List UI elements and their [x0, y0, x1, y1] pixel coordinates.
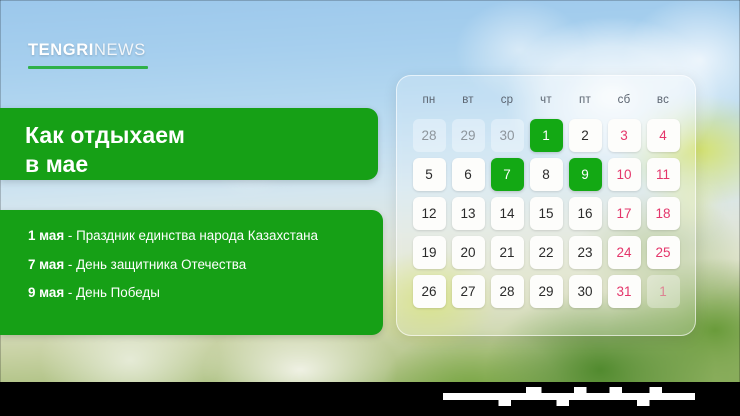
calendar-day-31[interactable]: 31 [608, 275, 641, 308]
calendar-cell-wrap: 20 [449, 233, 488, 272]
holiday-item: 1 мая - Праздник единства народа Казахст… [28, 227, 365, 245]
calendar-cell-wrap: 27 [449, 272, 488, 311]
calendar-day-1[interactable]: 1 [647, 275, 680, 308]
calendar-cell-wrap: 19 [410, 233, 449, 272]
calendar-weekday-вс: вс [644, 94, 683, 106]
holiday-separator: - [64, 257, 76, 272]
calendar-weekday-пт: пт [566, 94, 605, 106]
calendar-day-13[interactable]: 13 [452, 197, 485, 230]
calendar-cell-wrap: 28 [488, 272, 527, 311]
calendar-day-5[interactable]: 5 [413, 158, 446, 191]
calendar-day-28[interactable]: 28 [491, 275, 524, 308]
calendar-cell-wrap: 24 [605, 233, 644, 272]
calendar-day-16[interactable]: 16 [569, 197, 602, 230]
calendar-cell-wrap: 3 [605, 116, 644, 155]
calendar-day-8[interactable]: 8 [530, 158, 563, 191]
calendar-cell-wrap: 1 [527, 116, 566, 155]
title-banner: Как отдыхаем в мае [0, 108, 378, 180]
holidays-banner: 1 мая - Праздник единства народа Казахст… [0, 210, 383, 335]
calendar-cell-wrap: 28 [410, 116, 449, 155]
page-title: Как отдыхаем в мае [25, 121, 358, 179]
calendar-cell-wrap: 22 [527, 233, 566, 272]
calendar-day-12[interactable]: 12 [413, 197, 446, 230]
calendar-cell-wrap: 6 [449, 155, 488, 194]
holiday-name: День защитника Отечества [76, 257, 246, 272]
holiday-date: 9 мая [28, 285, 64, 300]
calendar-day-23[interactable]: 23 [569, 236, 602, 269]
calendar-cell-wrap: 23 [566, 233, 605, 272]
bottom-watermark [443, 393, 695, 400]
calendar-cell-wrap: 12 [410, 194, 449, 233]
calendar-cell-wrap: 16 [566, 194, 605, 233]
holiday-date: 1 мая [28, 228, 64, 243]
calendar-day-29[interactable]: 29 [530, 275, 563, 308]
calendar-cell-wrap: 8 [527, 155, 566, 194]
calendar-cell-wrap: 30 [488, 116, 527, 155]
calendar-cell-wrap: 21 [488, 233, 527, 272]
calendar-day-30[interactable]: 30 [569, 275, 602, 308]
calendar-day-21[interactable]: 21 [491, 236, 524, 269]
calendar-cell-wrap: 26 [410, 272, 449, 311]
bottom-bar [0, 382, 740, 416]
calendar-day-17[interactable]: 17 [608, 197, 641, 230]
calendar-cell-wrap: 25 [644, 233, 683, 272]
calendar-day-3[interactable]: 3 [608, 119, 641, 152]
holiday-name: Праздник единства народа Казахстана [76, 228, 318, 243]
calendar-cell-wrap: 31 [605, 272, 644, 311]
calendar-day-18[interactable]: 18 [647, 197, 680, 230]
calendar-weekday-пн: пн [410, 94, 449, 106]
holiday-date: 7 мая [28, 257, 64, 272]
calendar-weekday-сб: сб [605, 94, 644, 106]
calendar-panel: пнвтсрчтптсбвс 2829301234567891011121314… [396, 75, 696, 336]
brand-wordmark: TENGRINEWS [28, 42, 168, 59]
holiday-name: День Победы [76, 285, 160, 300]
calendar-weekday-ср: ср [488, 94, 527, 106]
calendar-day-26[interactable]: 26 [413, 275, 446, 308]
calendar-cell-wrap: 5 [410, 155, 449, 194]
calendar-cell-wrap: 2 [566, 116, 605, 155]
calendar-day-9[interactable]: 9 [569, 158, 602, 191]
holiday-item: 7 мая - День защитника Отечества [28, 256, 365, 274]
holiday-item: 9 мая - День Победы [28, 284, 365, 302]
calendar-day-27[interactable]: 27 [452, 275, 485, 308]
calendar-cell-wrap: 15 [527, 194, 566, 233]
calendar-cell-wrap: 9 [566, 155, 605, 194]
brand-underline [28, 66, 148, 69]
calendar-day-29[interactable]: 29 [452, 119, 485, 152]
infographic-canvas: TENGRINEWS Как отдыхаем в мае 1 мая - Пр… [0, 0, 740, 416]
calendar-day-24[interactable]: 24 [608, 236, 641, 269]
calendar-day-28[interactable]: 28 [413, 119, 446, 152]
calendar-day-4[interactable]: 4 [647, 119, 680, 152]
calendar-cell-wrap: 18 [644, 194, 683, 233]
calendar-cell-wrap: 1 [644, 272, 683, 311]
calendar-cell-wrap: 7 [488, 155, 527, 194]
calendar-day-11[interactable]: 11 [647, 158, 680, 191]
calendar-weekday-header: пнвтсрчтптсбвс [397, 76, 695, 106]
calendar-day-2[interactable]: 2 [569, 119, 602, 152]
calendar-day-15[interactable]: 15 [530, 197, 563, 230]
calendar-day-25[interactable]: 25 [647, 236, 680, 269]
calendar-cell-wrap: 4 [644, 116, 683, 155]
holiday-separator: - [64, 285, 76, 300]
calendar-cell-wrap: 11 [644, 155, 683, 194]
brand-logo: TENGRINEWS [28, 42, 168, 69]
brand-name-primary: TENGRI [28, 41, 94, 59]
calendar-cell-wrap: 29 [449, 116, 488, 155]
calendar-day-30[interactable]: 30 [491, 119, 524, 152]
holiday-separator: - [64, 228, 76, 243]
calendar-cell-wrap: 13 [449, 194, 488, 233]
calendar-day-1[interactable]: 1 [530, 119, 563, 152]
calendar-day-19[interactable]: 19 [413, 236, 446, 269]
calendar-cell-wrap: 17 [605, 194, 644, 233]
calendar-day-7[interactable]: 7 [491, 158, 524, 191]
calendar-cell-wrap: 10 [605, 155, 644, 194]
calendar-day-6[interactable]: 6 [452, 158, 485, 191]
calendar-day-20[interactable]: 20 [452, 236, 485, 269]
calendar-weekday-вт: вт [449, 94, 488, 106]
calendar-day-10[interactable]: 10 [608, 158, 641, 191]
calendar-cell-wrap: 14 [488, 194, 527, 233]
calendar-cell-wrap: 29 [527, 272, 566, 311]
calendar-cell-wrap: 30 [566, 272, 605, 311]
calendar-day-grid: 2829301234567891011121314151617181920212… [397, 106, 695, 311]
calendar-day-14[interactable]: 14 [491, 197, 524, 230]
calendar-day-22[interactable]: 22 [530, 236, 563, 269]
calendar-weekday-чт: чт [527, 94, 566, 106]
brand-name-secondary: NEWS [94, 41, 146, 59]
